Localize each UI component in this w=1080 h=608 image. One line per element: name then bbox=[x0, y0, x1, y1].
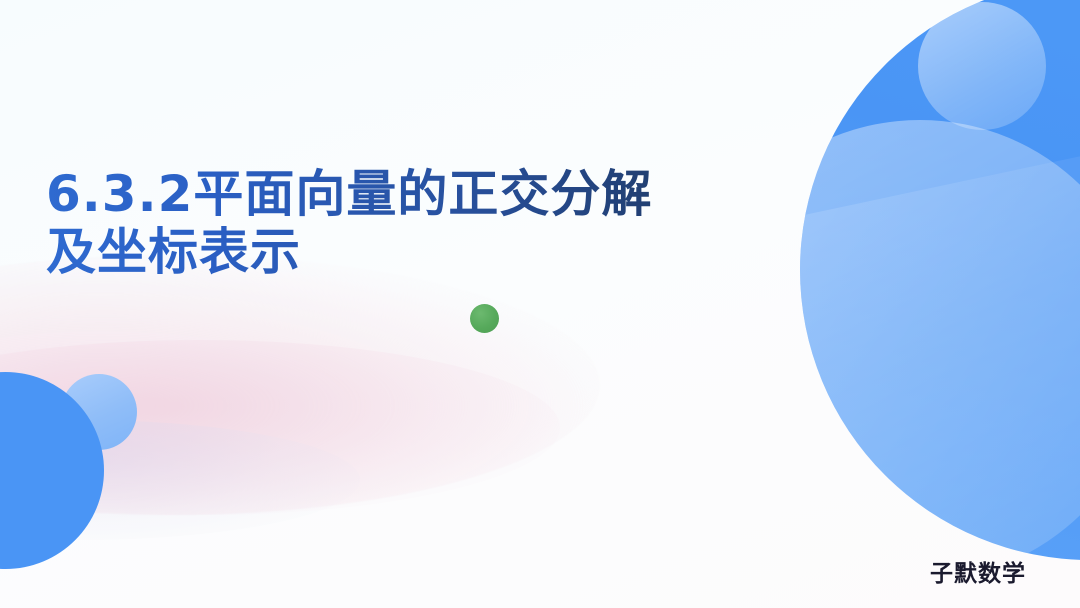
title-line-2: 及坐标表示 bbox=[46, 224, 786, 280]
large-blue-circle-right bbox=[800, 0, 1080, 560]
pale-lobe-shape bbox=[800, 120, 1080, 560]
solid-blue-circle-left bbox=[0, 372, 104, 569]
pink-wash-shape bbox=[0, 255, 600, 515]
watermark-label: 子默数学 bbox=[930, 554, 1026, 588]
presentation-slide: 6.3.2平面向量的正交分解 及坐标表示 子默数学 bbox=[0, 0, 1080, 608]
green-accent-dot bbox=[470, 304, 499, 333]
circle-sheen-overlay bbox=[800, 93, 1080, 560]
pale-bump-shape bbox=[918, 2, 1046, 130]
title-line-1: 6.3.2平面向量的正交分解 bbox=[46, 166, 786, 222]
lavender-wash-shape bbox=[0, 420, 360, 540]
pink-wash-secondary-shape bbox=[0, 340, 560, 515]
light-blue-bump-circle-left bbox=[61, 374, 137, 450]
slide-title: 6.3.2平面向量的正交分解 及坐标表示 bbox=[46, 166, 786, 280]
